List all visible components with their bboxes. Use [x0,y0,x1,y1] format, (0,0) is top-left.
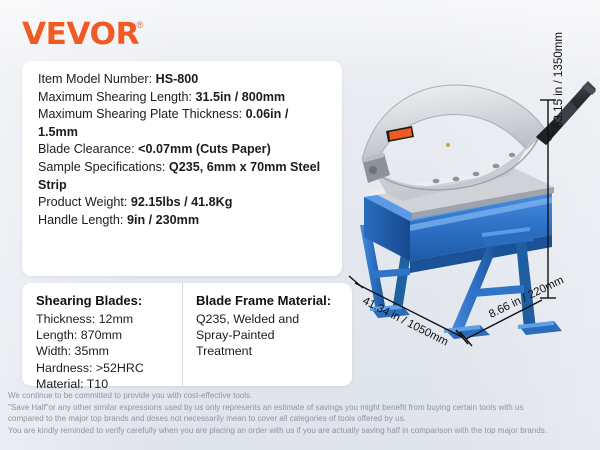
spec-label: Item Model Number: [38,72,152,86]
shearing-blades-title: Shearing Blades: [36,292,172,310]
frame-spec-line: Treatment [196,343,342,359]
spec-row: Maximum Shearing Length: 31.5in / 800mm [38,89,328,107]
spec-row: Maximum Shearing Plate Thickness: 0.06in… [38,106,328,141]
blade-frame-material-column: Blade Frame Material: Q235, Welded and S… [182,283,352,386]
disclaimer-line: You are kindly reminded to verify carefu… [8,425,596,437]
spec-label: Blade Clearance: [38,142,135,156]
blade-spec-line: Width: 35mm [36,343,172,359]
disclaimer-block: We continue to be committed to provide y… [8,390,596,436]
specification-card: Item Model Number: HS-800 Maximum Sheari… [22,61,342,276]
spec-row: Handle Length: 9in / 230mm [38,212,328,230]
spec-row: Sample Specifications: Q235, 6mm x 70mm … [38,159,328,194]
blade-spec-line: Thickness: 12mm [36,311,172,327]
spec-row: Blade Clearance: <0.07mm (Cuts Paper) [38,141,328,159]
spec-row: Product Weight: 92.15lbs / 41.8Kg [38,194,328,212]
spec-label: Sample Specifications: [38,160,165,174]
spec-label: Maximum Shearing Plate Thickness: [38,107,242,121]
frame-spec-line: Q235, Welded and [196,311,342,327]
brand-name: VEVOR [22,20,139,50]
shearing-blades-column: Shearing Blades: Thickness: 12mm Length:… [22,283,182,386]
disclaimer-line: We continue to be committed to provide y… [8,390,596,402]
disclaimer-line: compared to the major top brands and dos… [8,413,596,425]
spec-row: Item Model Number: HS-800 [38,71,328,89]
spec-value: 31.5in / 800mm [196,90,286,104]
disclaimer-line: "Save Half"or any other similar expressi… [8,402,596,414]
spec-value: 9in / 230mm [127,213,199,227]
spec-label: Maximum Shearing Length: [38,90,192,104]
blade-frame-title: Blade Frame Material: [196,292,342,310]
handle [536,81,596,145]
blade-spec-line: Hardness: >52HRC [36,360,172,376]
vevor-logo: VEVOR ® [22,20,143,50]
spec-value: HS-800 [156,72,199,86]
spec-value: <0.07mm (Cuts Paper) [138,142,271,156]
frame-spec-line: Spray-Painted [196,327,342,343]
spec-value: 92.15lbs / 41.8Kg [131,195,233,209]
spec-label: Product Weight: [38,195,127,209]
dimension-height-label: 53.15 in / 1350mm [552,32,565,128]
spec-label: Handle Length: [38,213,123,227]
blade-spec-line: Length: 870mm [36,327,172,343]
product-spec-banner: VEVOR ® Item Model Number: HS-800 Maximu… [0,0,600,450]
blades-material-card: Shearing Blades: Thickness: 12mm Length:… [22,283,352,386]
